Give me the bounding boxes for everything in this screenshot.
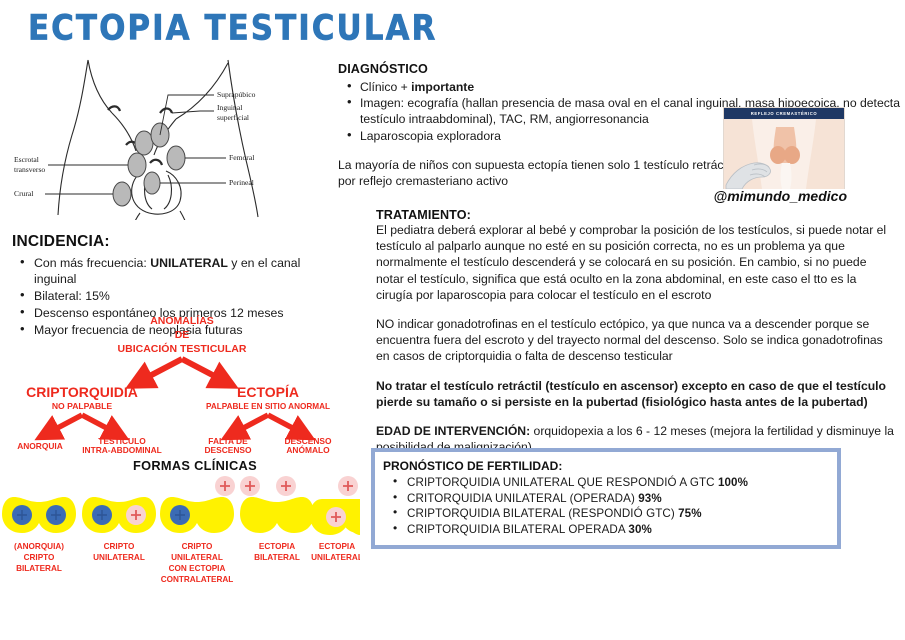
- left-column: Suprapúbico Inguinal superficial Femoral…: [0, 55, 360, 640]
- flow-right-title: ECTOPÍA: [237, 384, 299, 400]
- list-item: CRIPTORQUIDIA BILATERAL (RESPONDIÓ GTC) …: [383, 506, 829, 522]
- forma-3-label-line2: UNILATERAL: [171, 553, 223, 562]
- forma-4-label-line1: ECTOPIA: [259, 542, 295, 551]
- item-text: Clínico +: [360, 80, 411, 94]
- list-item: CRIPTORQUIDIA BILATERAL OPERADA 30%: [383, 522, 829, 538]
- diagnostico-heading: DIAGNÓSTICO: [338, 62, 905, 76]
- list-item: CRITORQUIDIA UNILATERAL (OPERADA) 93%: [383, 491, 829, 507]
- label-crural: Crural: [14, 189, 33, 198]
- label-suprapubico: Suprapúbico: [217, 90, 256, 99]
- forma-5-ectopia-unilateral: [310, 476, 360, 535]
- forma-3-cripto-unilateral-con-ectopia-contralateral: [160, 476, 235, 533]
- infographic-page: ECTOPIA TESTICULAR: [0, 0, 905, 640]
- cremasteric-figure-illustration: [724, 119, 844, 189]
- item-value: 75%: [678, 507, 702, 520]
- forma-3-label-line1: CRIPTO: [182, 542, 213, 551]
- item-text: Bilateral: 15%: [34, 289, 110, 303]
- tratamiento-paragraph-2: NO indicar gonadotrofinas en el testícul…: [376, 316, 896, 365]
- flow-left-child2-line2: INTRA-ABDOMINAL: [82, 445, 162, 453]
- forma-5-label-line1: ECTOPIA: [319, 542, 355, 551]
- flow-root-line1: ANOMALÍAS: [150, 314, 214, 327]
- flow-left-sub: NO PALPABLE: [52, 401, 113, 411]
- tratamiento-section: TRATAMIENTO: El pediatra deberá explorar…: [376, 208, 896, 455]
- label-femoral: Femoral: [229, 153, 254, 162]
- label-inguinal-1: Inguinal: [217, 103, 242, 112]
- item-label: CRIPTORQUIDIA UNILATERAL QUE RESPONDIÓ A…: [407, 476, 718, 489]
- item-text: Laparoscopia exploradora: [360, 129, 501, 143]
- cremasteric-reflex-figure: REFLEJO CREMASTÉRICO: [723, 107, 845, 189]
- anatomy-diagram: Suprapúbico Inguinal superficial Femoral…: [0, 55, 335, 220]
- list-item: Clínico + importante: [338, 79, 905, 95]
- list-item: Bilateral: 15%: [12, 288, 342, 304]
- cremasteric-figure-caption: REFLEJO CREMASTÉRICO: [751, 111, 817, 116]
- diagnostico-section: DIAGNÓSTICO Clínico + importante Imagen:…: [338, 62, 905, 189]
- forma-2-label-line1: CRIPTO: [104, 542, 135, 551]
- forma-5-label-line2: UNILATERAL: [311, 553, 360, 562]
- flow-right-sub: PALPABLE EN SITIO ANORMAL: [206, 402, 330, 411]
- diagnostico-note: La mayoría de niños con supuesta ectopía…: [338, 157, 738, 189]
- forma-4-ectopia-bilateral: [240, 476, 314, 533]
- label-escrotal-1: Escrotal: [14, 155, 39, 164]
- flow-right-child1-line2: DESCENSO: [204, 445, 251, 453]
- right-column: DIAGNÓSTICO Clínico + importante Imagen:…: [338, 62, 905, 189]
- item-bold: UNILATERAL: [150, 256, 228, 270]
- flow-root-line2: DE: [175, 329, 190, 341]
- pronostico-heading: PRONÓSTICO DE FERTILIDAD:: [383, 459, 829, 473]
- list-item: Con más frecuencia: UNILATERAL y en el c…: [12, 255, 342, 287]
- tratamiento-paragraph-3: No tratar el testículo retráctil (testíc…: [376, 378, 896, 410]
- flow-root-line3: UBICACIÓN TESTICULAR: [118, 342, 247, 355]
- flow-left-child1: ANORQUIA: [17, 441, 63, 451]
- flow-left-title: CRIPTORQUIDIA: [26, 384, 138, 400]
- list-item: CRIPTORQUIDIA UNILATERAL QUE RESPONDIÓ A…: [383, 475, 829, 491]
- formas-clinicas-diagrams: (ANORQUIA) CRIPTO BILATERAL CRIPTO UNILA…: [0, 473, 360, 633]
- item-label: CRITORQUIDIA UNILATERAL (OPERADA): [407, 492, 638, 505]
- cremasteric-figure-caption-bar: REFLEJO CREMASTÉRICO: [724, 108, 844, 119]
- page-title: ECTOPIA TESTICULAR: [28, 8, 437, 48]
- item-bold: importante: [411, 80, 474, 94]
- forma-1-label-line1: (ANORQUIA): [14, 542, 64, 551]
- item-text: Con más frecuencia:: [34, 256, 150, 270]
- flow-right-child2-line2: ANÓMALO: [286, 444, 330, 453]
- forma-2-cripto-unilateral: [82, 497, 156, 533]
- tratamiento-heading: TRATAMIENTO:: [376, 208, 896, 222]
- pronostico-fertilidad-box: PRONÓSTICO DE FERTILIDAD: CRIPTORQUIDIA …: [371, 448, 841, 549]
- edad-intervencion-label: EDAD DE INTERVENCIÓN:: [376, 424, 530, 438]
- item-label: CRIPTORQUIDIA BILATERAL OPERADA: [407, 523, 628, 536]
- forma-3-label-line3: CON ECTOPIA: [169, 564, 226, 573]
- forma-3-label-line4: CONTRALATERAL: [161, 575, 234, 584]
- item-value: 93%: [638, 492, 662, 505]
- forma-1-label-line3: BILATERAL: [16, 564, 62, 573]
- forma-4-label-line2: BILATERAL: [254, 553, 300, 562]
- formas-clinicas-heading: FORMAS CLÍNICAS: [133, 458, 257, 473]
- classification-flowchart: ANOMALÍAS DE UBICACIÓN TESTICULAR CRIPTO…: [0, 313, 360, 453]
- item-label: CRIPTORQUIDIA BILATERAL (RESPONDIÓ GTC): [407, 507, 678, 520]
- watermark: @mimundo_medico: [714, 188, 847, 204]
- incidencia-heading: INCIDENCIA:: [12, 233, 342, 251]
- label-escrotal-2: transverso: [14, 165, 45, 174]
- forma-2-label-line2: UNILATERAL: [93, 553, 145, 562]
- item-value: 100%: [718, 476, 748, 489]
- forma-1-label-line2: CRIPTO: [24, 553, 55, 562]
- forma-1-anorquia-cripto-bilateral: [2, 497, 76, 533]
- pronostico-list: CRIPTORQUIDIA UNILATERAL QUE RESPONDIÓ A…: [383, 475, 829, 537]
- label-perineal: Perineal: [229, 178, 254, 187]
- item-value: 30%: [628, 523, 652, 536]
- tratamiento-paragraph-1: El pediatra deberá explorar al bebé y co…: [376, 222, 896, 303]
- label-inguinal-2: superficial: [217, 113, 249, 122]
